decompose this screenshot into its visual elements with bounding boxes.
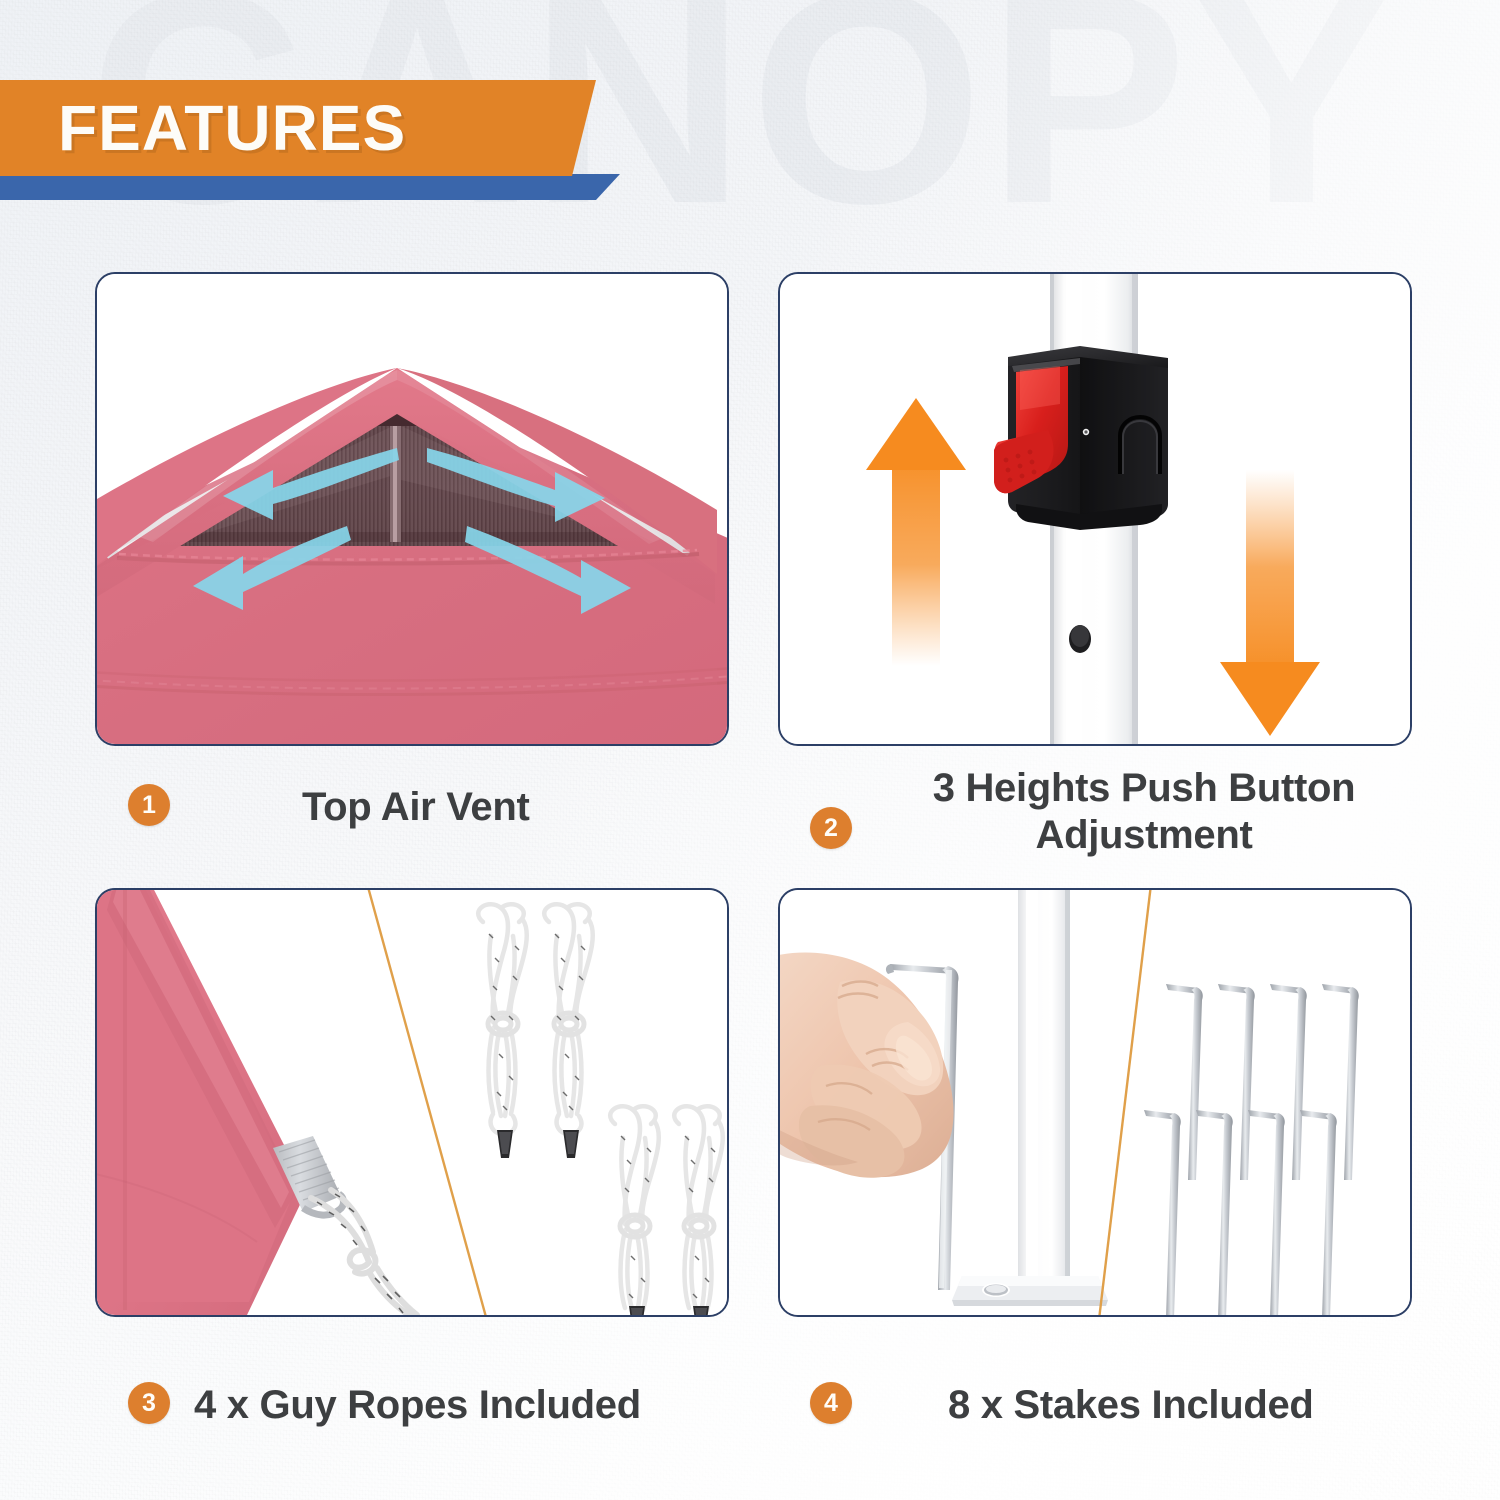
feature-caption-1: 1 Top Air Vent [128,784,728,831]
feature-caption-4: 4 8 x Stakes Included [810,1382,1430,1429]
infographic-page: CANOPY FEATURES [0,0,1500,1500]
feature-panel-2 [778,272,1412,746]
feature-panel-4 [778,888,1412,1317]
banner-blue-underbar [0,174,620,200]
feature-caption-2: 2 3 Heights Push Button Adjustment [810,765,1420,859]
feature-grid: 1 Top Air Vent [0,0,1500,1500]
feature-number-badge-2: 2 [810,807,852,849]
page-title: FEATURES [58,91,406,165]
feature-caption-3: 3 4 x Guy Ropes Included [128,1382,748,1429]
feature-number-badge-1: 1 [128,784,170,826]
feature-label-1: Top Air Vent [302,784,530,831]
guy-ropes-photo [97,890,727,1315]
feature-panel-1 [95,272,729,746]
canopy-top-air-vent-photo [97,274,727,744]
feature-label-4: 8 x Stakes Included [948,1382,1314,1429]
banner-orange-bar: FEATURES [0,80,596,176]
features-banner: FEATURES [0,80,596,176]
feature-label-3: 4 x Guy Ropes Included [194,1382,641,1429]
push-button-height-adjustment-photo [780,274,1410,744]
feature-label-2-line1: 3 Heights Push Button [933,766,1356,810]
feature-panel-3 [95,888,729,1317]
feature-number-badge-4: 4 [810,1382,852,1424]
ground-stakes-photo [780,890,1410,1315]
feature-label-2: 3 Heights Push Button Adjustment [884,765,1404,859]
feature-number-badge-3: 3 [128,1382,170,1424]
feature-label-2-line2: Adjustment [884,812,1404,859]
